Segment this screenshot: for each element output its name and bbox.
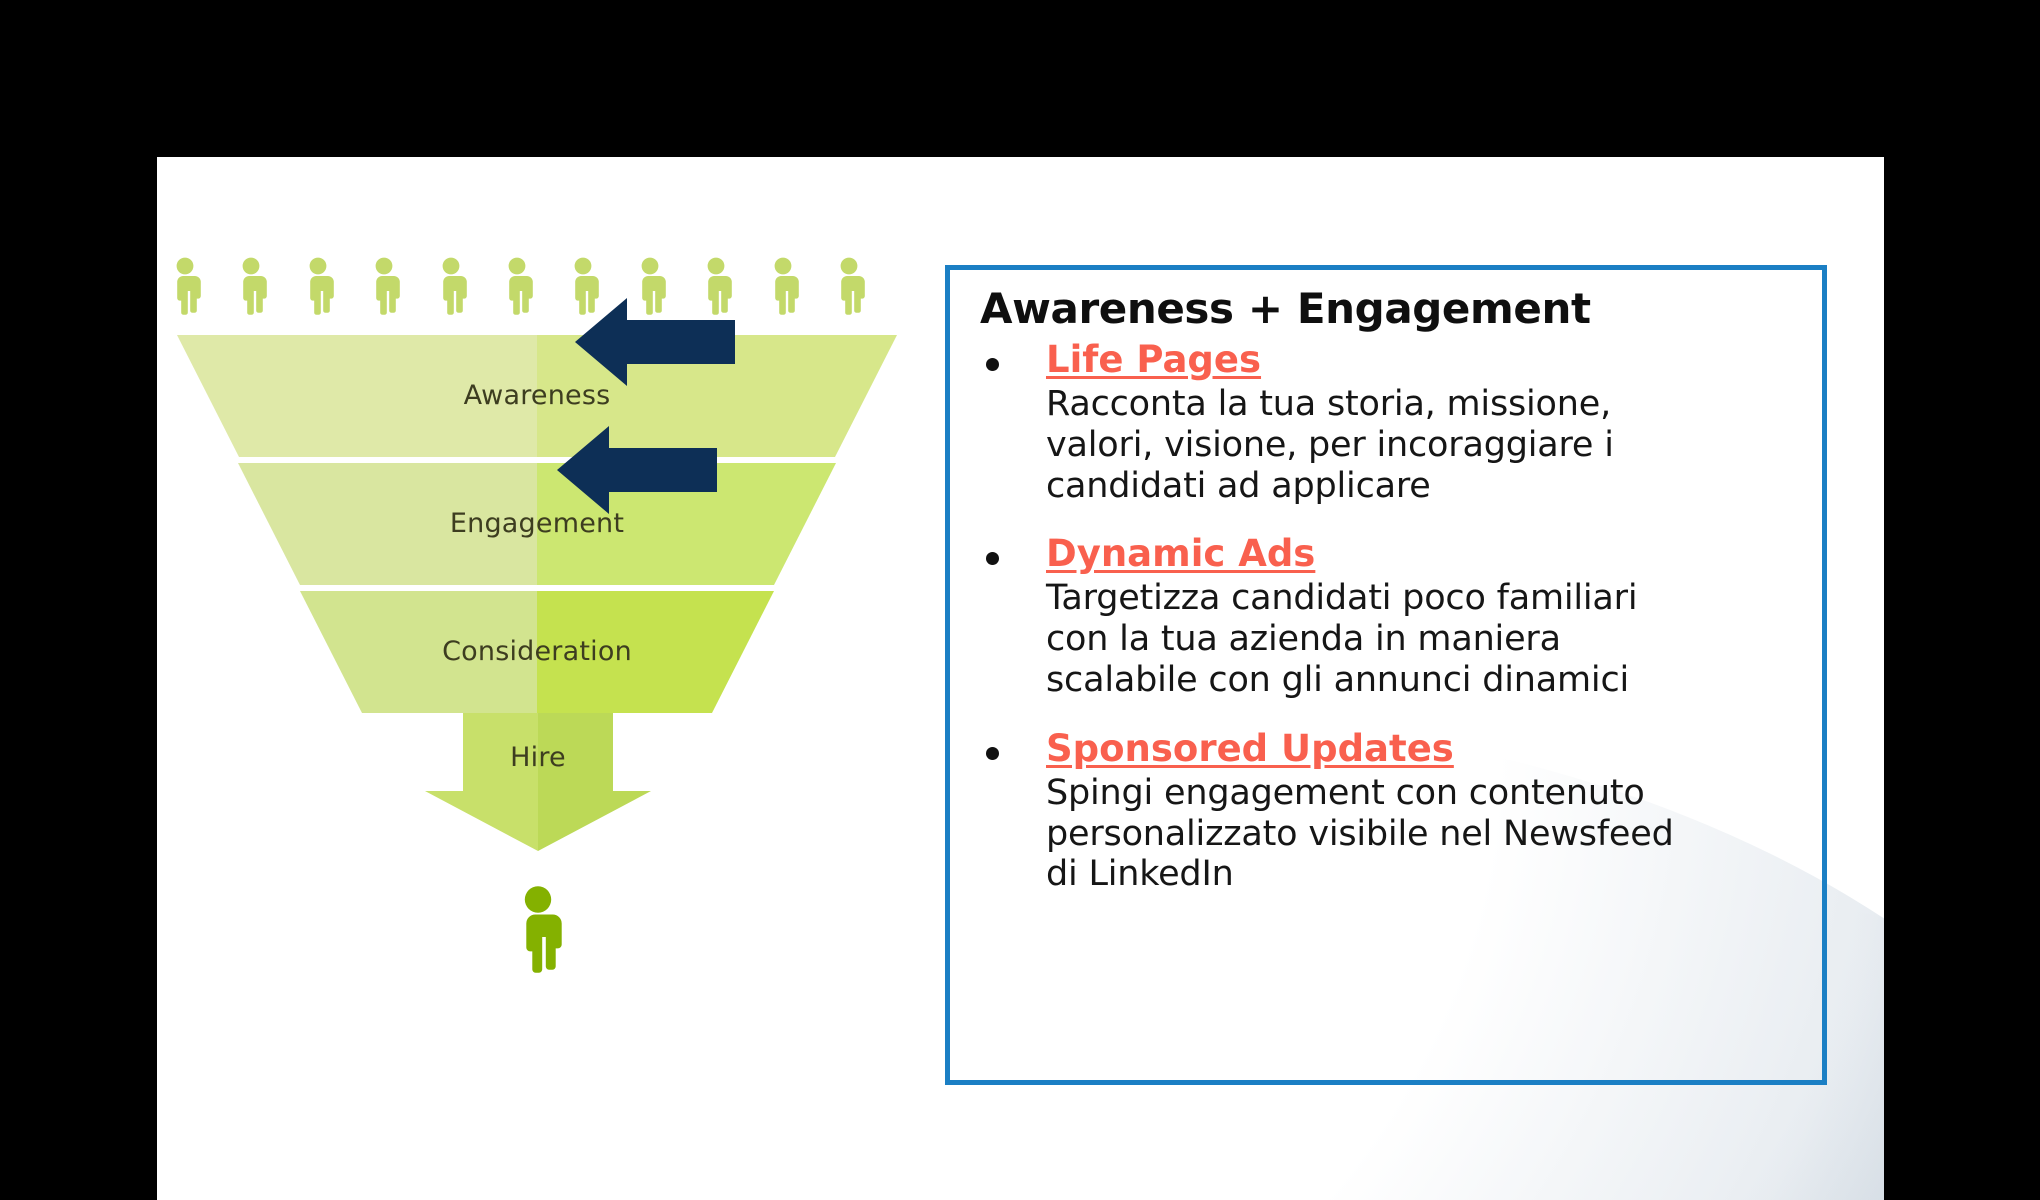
funnel-stage-label-engagement: Engagement <box>238 508 836 539</box>
bullet-body-line: con la tua azienda in maniera <box>1046 619 1820 660</box>
bullet-body-line: scalabile con gli annunci dinamici <box>1046 660 1820 701</box>
bullet-body-line: di LinkedIn <box>1046 854 1820 895</box>
person-icon <box>300 257 336 315</box>
arrow-awareness-icon <box>575 298 735 386</box>
info-panel-title: Awareness + Engagement <box>980 284 1591 333</box>
bullet-body-line: valori, visione, per incoraggiare i <box>1046 425 1820 466</box>
bullet-body-line: Targetizza candidati poco familiari <box>1046 578 1820 619</box>
list-item[interactable]: Sponsored Updates Spingi engagement con … <box>964 727 1820 895</box>
person-icon <box>233 257 269 315</box>
arrow-engagement-icon <box>557 426 717 514</box>
person-icon <box>765 257 801 315</box>
bullet-body-dynamic-ads: Targetizza candidati poco familiari con … <box>1046 578 1820 701</box>
slide-root: Awareness Engagement Consideration Hire <box>0 0 2040 1200</box>
hired-person-icon <box>511 882 565 977</box>
slide-canvas: Awareness Engagement Consideration Hire <box>157 157 1884 1200</box>
bullet-list: Life Pages Racconta la tua storia, missi… <box>964 338 1820 921</box>
funnel-stage-label-awareness: Awareness <box>177 380 897 411</box>
bullet-heading-dynamic-ads[interactable]: Dynamic Ads <box>1046 532 1315 576</box>
list-item[interactable]: Dynamic Ads Targetizza candidati poco fa… <box>964 532 1820 700</box>
funnel-diagram: Awareness Engagement Consideration Hire <box>157 157 1037 1200</box>
bullet-body-life-pages: Racconta la tua storia, missione, valori… <box>1046 384 1820 507</box>
person-icon <box>433 257 469 315</box>
bullet-dot-icon <box>986 552 999 565</box>
bullet-body-line: Spingi engagement con contenuto <box>1046 773 1820 814</box>
people-row <box>167 245 867 315</box>
person-icon <box>366 257 402 315</box>
funnel-stage-label-hire: Hire <box>363 742 713 773</box>
bullet-dot-icon <box>986 358 999 371</box>
bullet-heading-sponsored-updates[interactable]: Sponsored Updates <box>1046 727 1454 771</box>
bullet-body-line: personalizzato visibile nel Newsfeed <box>1046 814 1820 855</box>
bullet-dot-icon <box>986 747 999 760</box>
person-icon <box>831 257 867 315</box>
bullet-body-sponsored-updates: Spingi engagement con contenuto personal… <box>1046 773 1820 896</box>
funnel-stage-label-consideration: Consideration <box>300 636 774 667</box>
funnel-stage-hire[interactable] <box>363 713 713 851</box>
bullet-heading-life-pages[interactable]: Life Pages <box>1046 338 1261 382</box>
bullet-body-line: candidati ad applicare <box>1046 466 1820 507</box>
person-icon <box>167 257 203 315</box>
person-icon <box>499 257 535 315</box>
bullet-body-line: Racconta la tua storia, missione, <box>1046 384 1820 425</box>
list-item[interactable]: Life Pages Racconta la tua storia, missi… <box>964 338 1820 506</box>
info-panel: Awareness + Engagement Life Pages Raccon… <box>945 265 1827 1085</box>
